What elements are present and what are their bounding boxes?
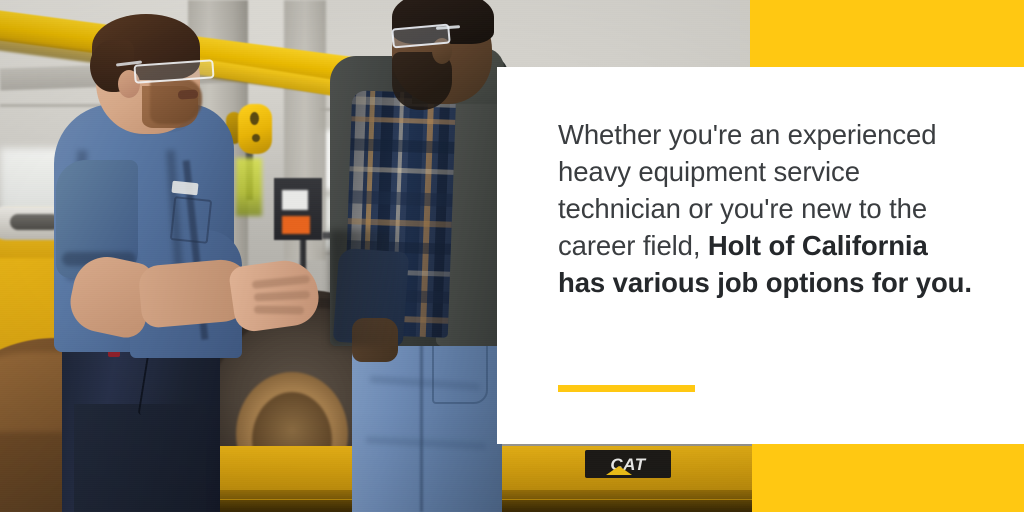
promo-banner: CAT (0, 0, 1024, 512)
hoist-hole (252, 134, 260, 142)
technician-left-beard (150, 78, 202, 124)
yellow-block-bottom-right (752, 444, 1024, 512)
technician-left-mouth (178, 89, 199, 99)
jeans-pocket (432, 342, 488, 404)
yellow-block-top-right (750, 0, 1024, 67)
technician-left-chest-pocket (170, 196, 212, 244)
technician-left-pant-leg (74, 404, 206, 512)
hydraulic-rod (10, 214, 60, 230)
control-panel-orange-marker (282, 216, 310, 234)
technician-left-name-tag (171, 181, 198, 196)
message-card: Whether you're an experienced heavy equi… (497, 67, 1024, 444)
hoist-hole (250, 112, 259, 125)
hand-finger (254, 306, 304, 315)
card-paragraph: Whether you're an experienced heavy equi… (558, 116, 978, 301)
accent-underline-bar (558, 385, 695, 392)
vest-shadow (330, 230, 400, 346)
jeans-seam (420, 336, 423, 512)
control-panel-label (282, 190, 308, 210)
cat-triangle-icon (606, 466, 632, 475)
background-hi-vis-figure (236, 158, 262, 216)
